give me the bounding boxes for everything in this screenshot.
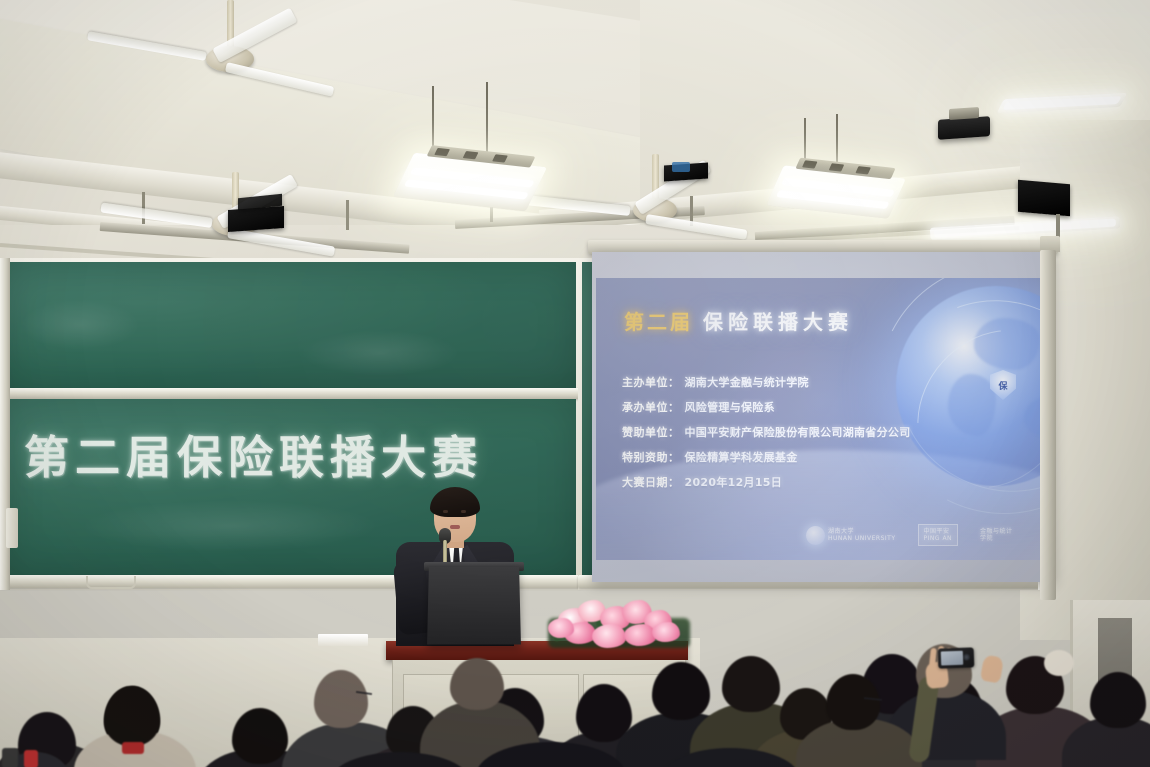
hunan-university-seal: 湖南大学HUNAN UNIVERSITY <box>806 526 896 545</box>
blackboard-chalk-headline: 第二届保险联播大赛 <box>24 421 483 486</box>
slide-logo-strip: 湖南大学HUNAN UNIVERSITY中国平安PING AN金融与统计学院 <box>806 524 1013 546</box>
slide-info-label: 承办单位： <box>622 399 680 415</box>
chalk-smudge-3 <box>80 500 380 552</box>
lectern-monitor <box>427 567 521 644</box>
logo-text-line1: 湖南大学 <box>828 528 896 535</box>
slide-info-row: 赞助单位：中国平安财产保险股份有限公司湖南省分公司 <box>622 424 1022 440</box>
lily-pink-8 <box>548 618 574 638</box>
chalk-tray-holder[interactable] <box>86 576 136 589</box>
wall-speaker-right <box>1018 180 1070 217</box>
audience-head-16 <box>1090 672 1146 728</box>
lily-pink-6 <box>624 624 656 646</box>
light-hanger-left2 <box>486 82 488 160</box>
presentation-slide: 保 第二届 保险联播大赛 主办单位：湖南大学金融与统计学院承办单位：风险管理与保… <box>596 278 1050 560</box>
slide-info-value: 保险精算学科发展基金 <box>685 449 798 465</box>
slide-info-value: 2020年12月15日 <box>685 474 783 490</box>
logo-text: 金融与统计学院 <box>980 528 1013 542</box>
logo-text-line1: 金融与统计 <box>980 528 1013 535</box>
ceiling-fan-rear-left <box>140 0 320 90</box>
audience-head-18 <box>826 674 880 730</box>
logo-text: 湖南大学HUNAN UNIVERSITY <box>828 528 896 542</box>
chalk-smudge-2 <box>300 330 460 376</box>
slide-info-row: 特别资助：保险精算学科发展基金 <box>622 449 1022 465</box>
audience-hair-2 <box>104 686 160 746</box>
slide-info-row: 主办单位：湖南大学金融与统计学院 <box>622 374 1022 390</box>
slide-info-value: 风险管理与保险系 <box>685 399 775 415</box>
logo-text-line1: 中国平安 <box>924 528 953 535</box>
slide-info-label: 特别资助： <box>622 449 680 465</box>
lily-pink-7 <box>652 622 680 642</box>
water-bottle-2 <box>24 750 38 767</box>
water-bottle-1 <box>2 748 18 767</box>
audience-head-4 <box>232 708 288 764</box>
slide-title-main: 保险联播大赛 <box>703 310 853 334</box>
smartphone-recording[interactable] <box>938 647 975 668</box>
slide-info-label: 大赛日期： <box>622 474 680 490</box>
projection-screen: 保 第二届 保险联播大赛 主办单位：湖南大学金融与统计学院承办单位：风险管理与保… <box>592 252 1054 582</box>
slide-info-row: 大赛日期：2020年12月15日 <box>622 474 1022 490</box>
slide-info-value: 中国平安财产保险股份有限公司湖南省分公司 <box>685 424 911 440</box>
slide-info-label: 主办单位： <box>622 374 680 390</box>
logo-text-line2: HUNAN UNIVERSITY <box>828 535 896 542</box>
track-hanger-2 <box>346 200 349 230</box>
presenter-eye-left <box>443 510 448 513</box>
slide-info-rows: 主办单位：湖南大学金融与统计学院承办单位：风险管理与保险系赞助单位：中国平安财产… <box>622 374 1022 499</box>
audience-recording-hand-right <box>980 654 1004 683</box>
phone-camera-lens <box>963 654 970 661</box>
projector-indicator <box>672 162 690 172</box>
sponsor-plate-logo: 中国平安PING AN <box>918 524 959 546</box>
papers-on-desk[interactable] <box>318 634 368 646</box>
lily-pink-5 <box>592 624 626 648</box>
chalk-eraser[interactable] <box>6 508 18 548</box>
lecture-hall-photo: 第二届保险联播大赛 保 第二届 保险联播大赛 主办单位：湖南大学金融 <box>0 0 1150 767</box>
department-logo: 金融与统计学院 <box>980 528 1013 542</box>
logo-text-line2: PING AN <box>924 535 953 542</box>
slide-info-row: 承办单位：风险管理与保险系 <box>622 399 1022 415</box>
ceiling-projector <box>938 116 990 140</box>
slide-info-label: 赞助单位： <box>622 424 680 440</box>
university-seal-icon <box>806 526 825 545</box>
logo-text: 中国平安PING AN <box>924 528 953 542</box>
audience-head-5-grey <box>314 670 368 728</box>
slide-title-prefix: 第二届 <box>624 310 693 334</box>
slide-title: 第二届 保险联播大赛 <box>624 306 853 335</box>
audience-head-11 <box>722 656 780 712</box>
chalk-smudge-1 <box>20 300 140 350</box>
blackboard-rail-mid-left <box>0 388 582 399</box>
audience-head-8-grey <box>450 658 504 710</box>
wall-conduit <box>1040 250 1056 600</box>
speaker-bracket-right <box>1056 214 1060 238</box>
audience-hair-tie-15 <box>1044 650 1074 676</box>
wall-speaker-left <box>228 206 284 232</box>
phone-screen <box>941 651 963 666</box>
slide-info-value: 湖南大学金融与统计学院 <box>685 374 809 390</box>
logo-text-line2: 学院 <box>980 535 1013 542</box>
audience-red-collar-2 <box>122 742 144 754</box>
presenter-mouth <box>450 525 460 529</box>
presenter-eye-right <box>461 510 466 513</box>
audience-head-10 <box>652 662 710 720</box>
